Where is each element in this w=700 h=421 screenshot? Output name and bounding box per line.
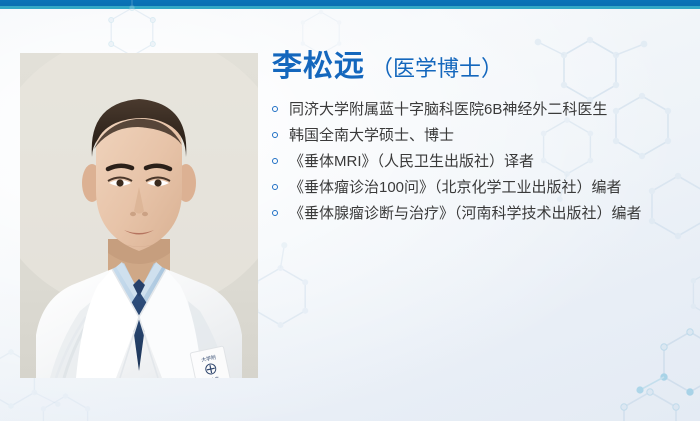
list-item: 《垂体腺瘤诊断与治疗》（河南科学技术出版社）编者 — [272, 201, 690, 226]
doctor-credential: （医学博士） — [371, 51, 503, 83]
portrait-photo: 大学附 蓝十字 医院·大学 — [20, 53, 258, 378]
list-item-label: 同济大学附属蓝十字脑科医院6B神经外二科医生 — [289, 101, 607, 118]
bullet-circle-icon — [272, 210, 278, 216]
credential-list: 同济大学附属蓝十字脑科医院6B神经外二科医生 韩国全南大学硕士、博士 《垂体MR… — [272, 97, 690, 226]
list-item: 韩国全南大学硕士、博士 — [272, 123, 690, 148]
profile-slide: 大学附 蓝十字 医院·大学 李松远 （医学博士） 同济大学附属蓝十字脑科医院6B… — [0, 0, 700, 421]
page-title: 李松远 （医学博士） — [272, 50, 690, 83]
bullet-circle-icon — [272, 106, 278, 112]
profile-text-column: 李松远 （医学博士） 同济大学附属蓝十字脑科医院6B神经外二科医生 韩国全南大学… — [272, 50, 690, 227]
doctor-name: 李松远 — [272, 50, 365, 83]
list-item-label: 《垂体瘤诊治100问》（北京化学工业出版社）编者 — [289, 179, 622, 196]
bullet-circle-icon — [272, 132, 278, 138]
list-item-label: 韩国全南大学硕士、博士 — [289, 127, 454, 144]
top-accent-bar-secondary — [0, 6, 700, 9]
list-item-label: 《垂体腺瘤诊断与治疗》（河南科学技术出版社）编者 — [289, 205, 642, 222]
list-item: 《垂体瘤诊治100问》（北京化学工业出版社）编者 — [272, 175, 690, 200]
list-item: 《垂体MRI》（人民卫生出版社）译者 — [272, 149, 690, 174]
list-item-label: 《垂体MRI》（人民卫生出版社）译者 — [289, 153, 534, 170]
list-item: 同济大学附属蓝十字脑科医院6B神经外二科医生 — [272, 97, 690, 122]
bullet-circle-icon — [272, 158, 278, 164]
bullet-circle-icon — [272, 184, 278, 190]
